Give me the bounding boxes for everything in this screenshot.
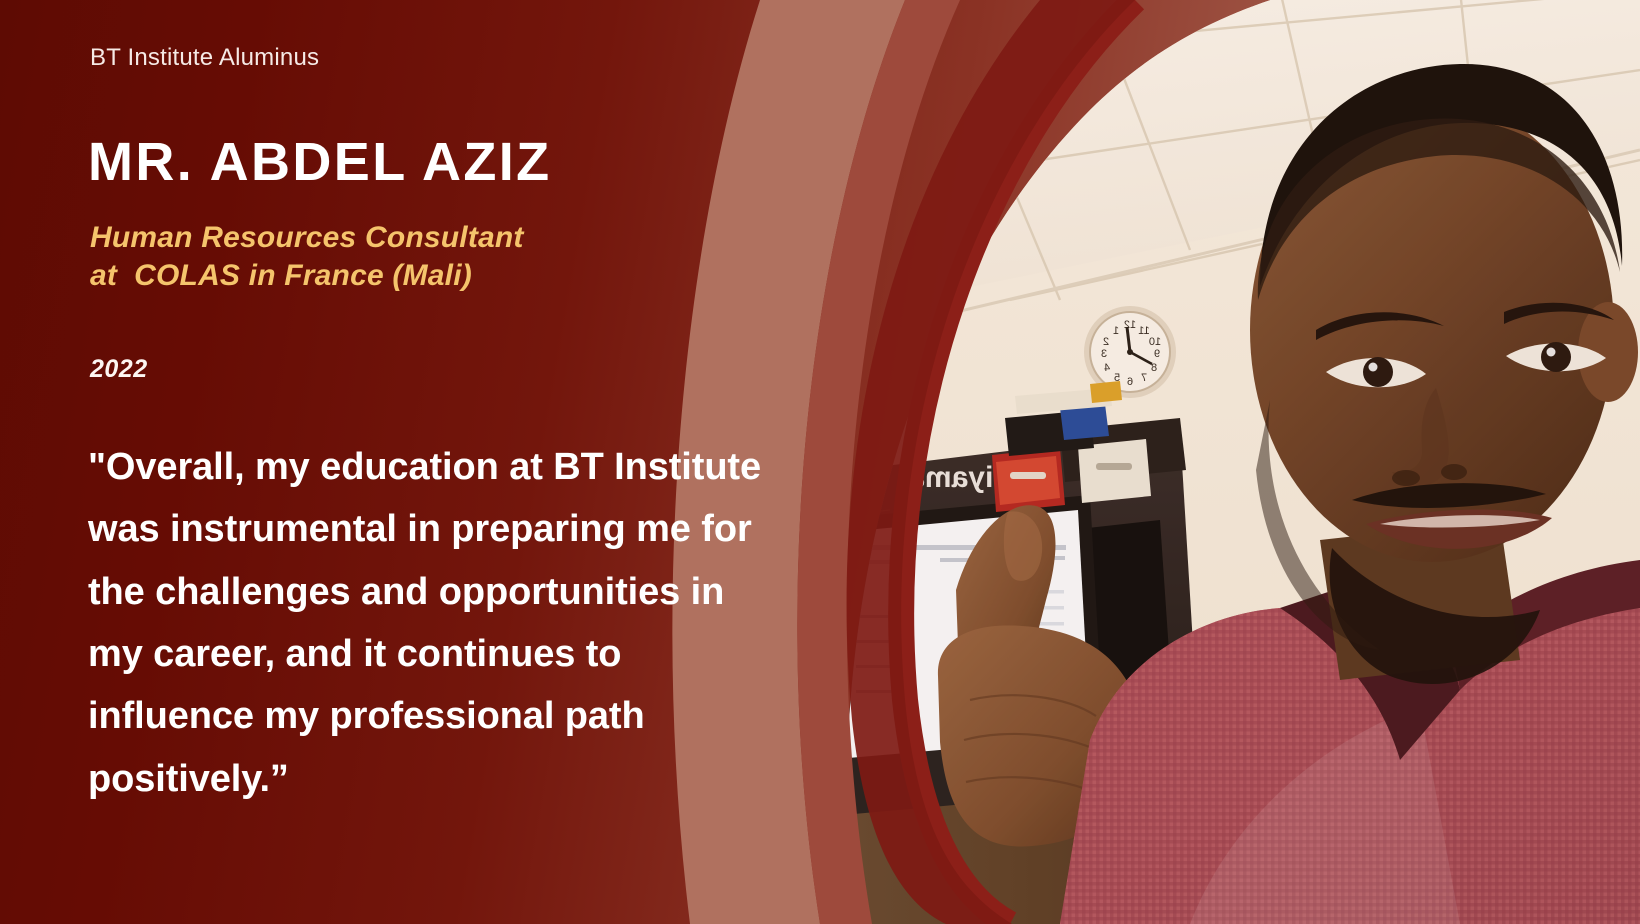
- alumnus-photo: 123 69 12 45 78 1011: [760, 0, 1640, 924]
- photo-illustration: 123 69 12 45 78 1011: [760, 0, 1640, 924]
- testimonial-content: BT Institute Aluminus MR. ABDEL AZIZ Hum…: [88, 0, 788, 924]
- alumnus-name: MR. ABDEL AZIZ: [88, 134, 552, 191]
- alumnus-role: Human Resources Consultant at COLAS in F…: [90, 219, 730, 296]
- graduation-year: 2022: [90, 355, 148, 384]
- testimonial-quote: "Overall, my education at BT Institute w…: [88, 436, 768, 810]
- eyebrow-label: BT Institute Aluminus: [90, 44, 319, 72]
- testimonial-card: 123 69 12 45 78 1011: [0, 0, 1640, 924]
